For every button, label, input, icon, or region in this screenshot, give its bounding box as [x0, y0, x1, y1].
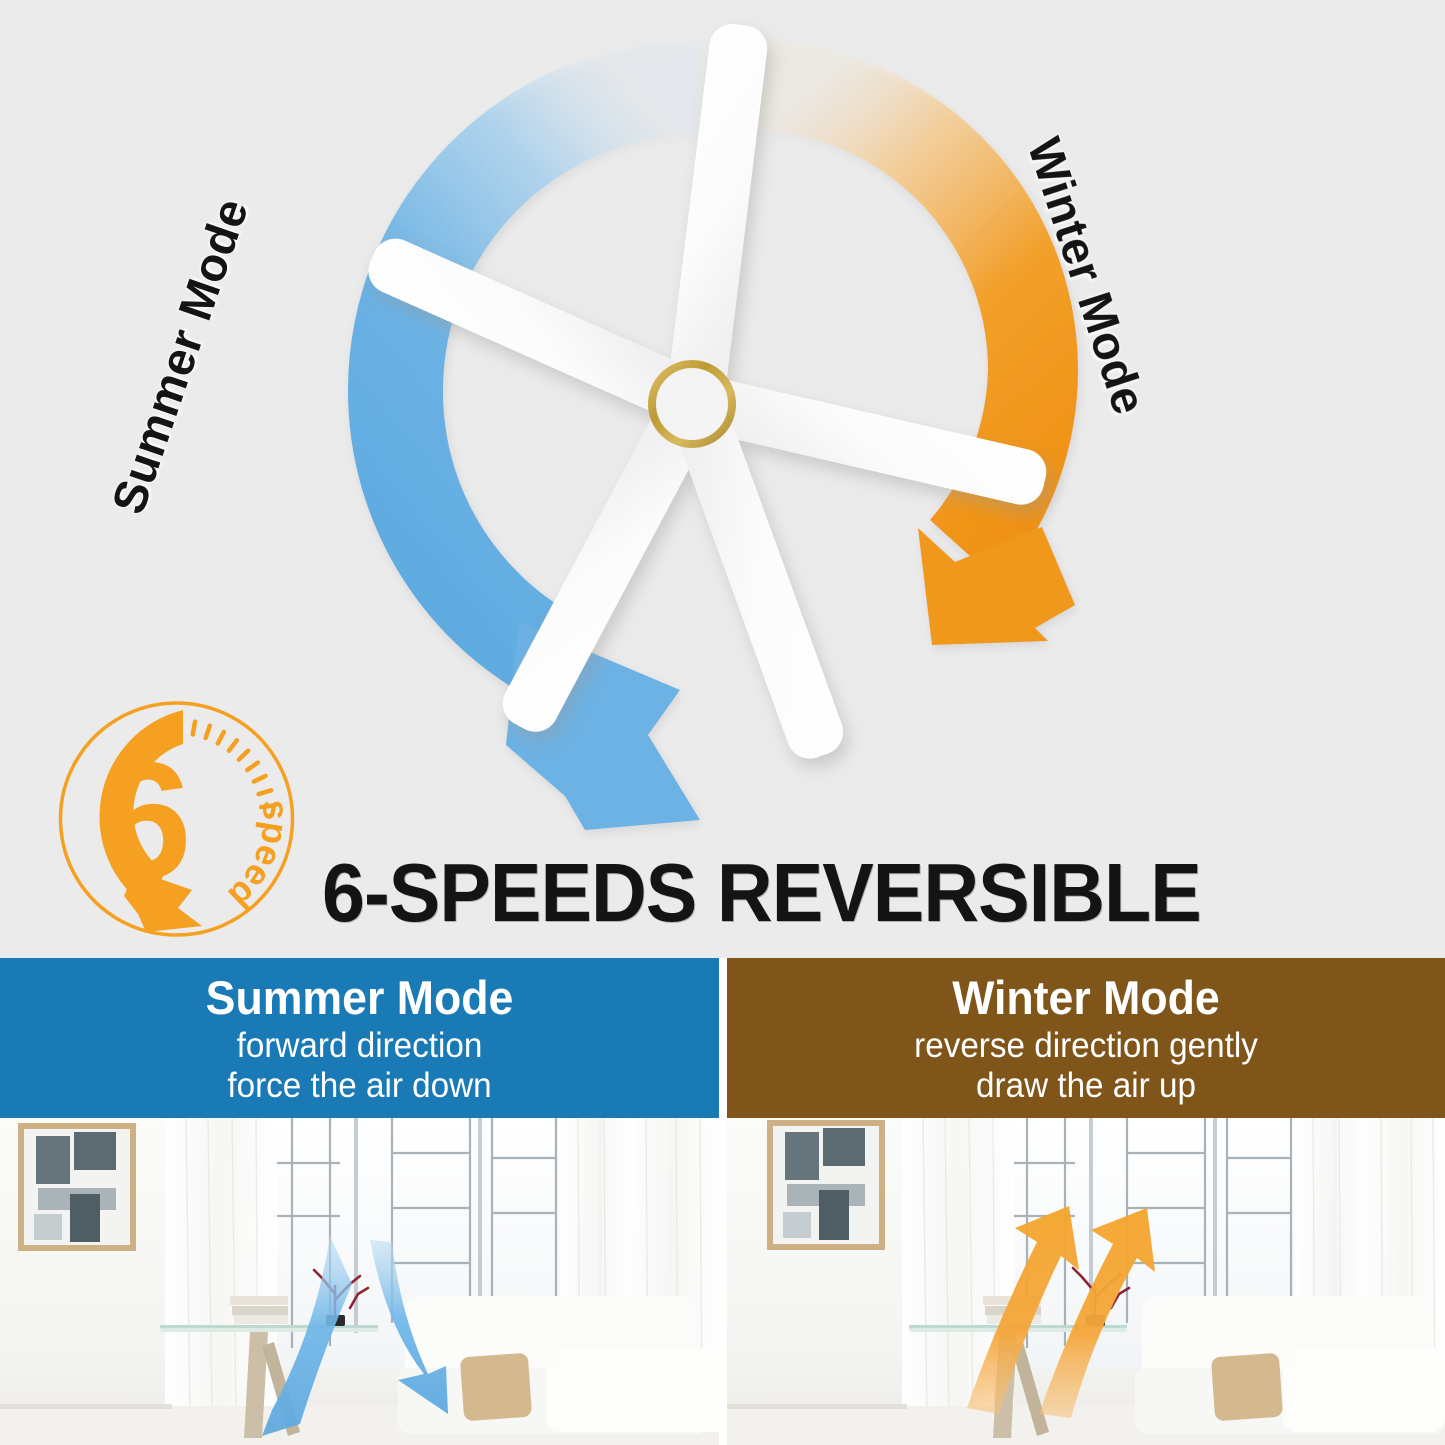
fan-hub: [652, 364, 732, 444]
wall-art: [767, 1120, 885, 1250]
photo-divider: [719, 1118, 727, 1445]
white-sofa: [1135, 1296, 1445, 1434]
winter-mode-banner: Winter Mode reverse direction gently dra…: [727, 958, 1445, 1118]
winter-rotation-arrow: [748, 40, 1078, 645]
six-speed-badge: 6 speed: [52, 694, 302, 942]
badge-number: 6: [100, 728, 192, 912]
winter-banner-title: Winter Mode: [745, 970, 1427, 1026]
page-title: 6-SPEEDS REVERSIBLE: [322, 848, 1215, 938]
badge-tick-marks: [193, 722, 274, 807]
books: [230, 1296, 288, 1324]
room-photo-row: [0, 1118, 1445, 1445]
badge-word: speed: [220, 799, 297, 917]
hero-section: Summer Mode Winter Mode: [0, 0, 1445, 958]
wall-art: [18, 1123, 136, 1251]
infographic-page: Summer Mode Winter Mode: [0, 0, 1445, 1445]
banner-divider: [719, 958, 727, 1118]
summer-room-photo: [0, 1118, 719, 1445]
winter-banner-line2: draw the air up: [745, 1066, 1427, 1106]
winter-room-photo: [727, 1118, 1445, 1445]
winter-banner-line1: reverse direction gently: [745, 1026, 1427, 1066]
mode-banner-row: Summer Mode forward direction force the …: [0, 958, 1445, 1118]
summer-banner-line2: force the air down: [18, 1066, 701, 1106]
summer-banner-line1: forward direction: [18, 1026, 701, 1066]
white-sofa: [398, 1296, 719, 1434]
tan-pillow: [1211, 1353, 1283, 1422]
summer-banner-title: Summer Mode: [18, 970, 701, 1026]
tan-pillow: [460, 1353, 532, 1422]
summer-mode-banner: Summer Mode forward direction force the …: [0, 958, 719, 1118]
